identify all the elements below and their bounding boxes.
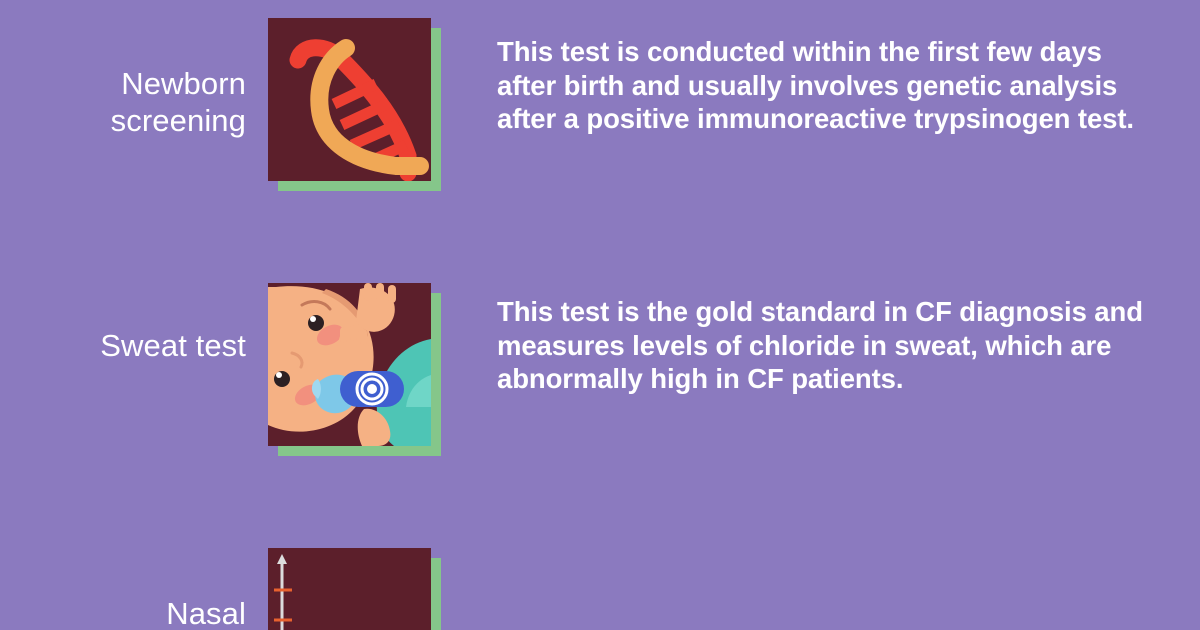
info-row-nasal: Nasal <box>0 548 1200 630</box>
row-label-sweat-test: Sweat test <box>0 283 268 364</box>
row-label-nasal: Nasal <box>0 548 268 630</box>
thumbnail-wrapper <box>268 18 431 181</box>
row-description-newborn-screening: This test is conducted within the first … <box>497 35 1160 136</box>
row-description-column <box>446 548 1200 565</box>
row-description-sweat-test: This test is the gold standard in CF dia… <box>497 295 1160 396</box>
info-row-sweat-test: Sweat test <box>0 283 1200 446</box>
cf-diagnostic-tests-infographic: Newborn screening <box>0 0 1200 630</box>
row-image-column <box>268 283 446 446</box>
row-image-column <box>268 18 446 181</box>
thumbnail-wrapper <box>268 548 431 630</box>
baby-with-pacifier-icon <box>268 283 431 446</box>
row-label-newborn-screening: Newborn screening <box>0 18 268 139</box>
dna-helix-icon <box>268 18 431 181</box>
info-row-newborn-screening: Newborn screening <box>0 18 1200 181</box>
row-description-column: This test is the gold standard in CF dia… <box>446 283 1200 396</box>
measurement-scale-icon <box>268 548 431 630</box>
row-description-column: This test is conducted within the first … <box>446 18 1200 136</box>
thumbnail-wrapper <box>268 283 431 446</box>
row-image-column <box>268 548 446 630</box>
